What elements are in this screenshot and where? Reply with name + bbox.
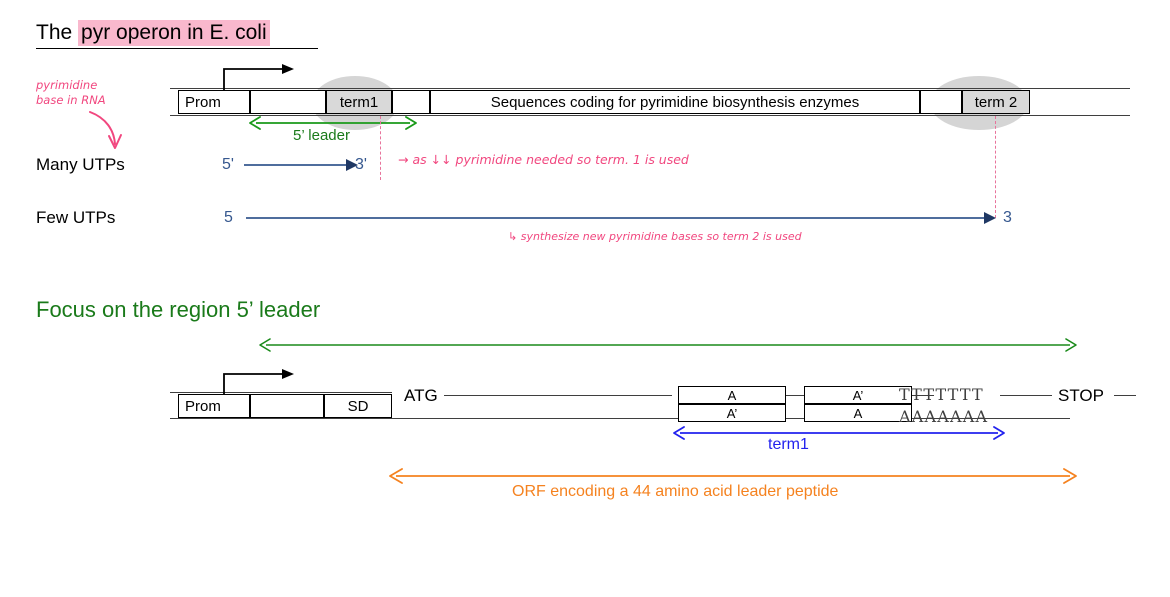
gene-box-term2-label: term 2 — [975, 94, 1018, 111]
gene-box-structural-genes-label: Sequences coding for pyrimidine biosynth… — [491, 94, 860, 111]
page-title: The pyr operon in E. coli — [36, 20, 270, 46]
handwritten-curved-arrow-icon — [84, 108, 144, 156]
slide-canvas: The pyr operon in E. coli pyrimidine bas… — [0, 0, 1170, 597]
transcript-1-arrow-icon — [244, 158, 360, 172]
handwritten-pyrimidine-note: pyrimidine base in RNA — [36, 78, 106, 108]
mrna-line-to-stop — [1000, 395, 1052, 396]
page-title-prefix: The — [36, 21, 78, 44]
section-heading: Focus on the region 5’ leader — [36, 297, 320, 323]
transcript-2-five-prime: 5 — [224, 209, 233, 227]
row-label-few-utps: Few UTPs — [36, 208, 115, 228]
transcript-1-three-prime: 3' — [355, 156, 367, 174]
bottom-gene-box-spacer — [250, 394, 324, 418]
hairpin-box-Aprime-bottom-label: A’ — [727, 406, 738, 421]
leader-region-span-arrow-icon — [258, 337, 1078, 353]
mrna-line-atg-to-hairpin — [444, 395, 672, 396]
term2-guideline — [995, 116, 996, 218]
gene-box-term2: term 2 — [962, 90, 1030, 114]
handwritten-pyrimidine-note-line2: base in RNA — [36, 93, 106, 108]
gene-box-spacer-1 — [250, 90, 326, 114]
orf-span-label: ORF encoding a 44 amino acid leader pept… — [512, 483, 838, 501]
hairpin-box-A-top: A — [678, 386, 786, 404]
handwritten-note-term1: → as ↓↓ pyrimidine needed so term. 1 is … — [398, 152, 689, 167]
handwritten-pyrimidine-note-line1: pyrimidine — [36, 78, 106, 93]
term1-span-label: term1 — [768, 436, 809, 454]
mrna-line-after-stop — [1114, 395, 1136, 396]
handwritten-note-term2: ↳ synthesize new pyrimidine bases so ter… — [508, 230, 802, 243]
poly-a-run: AAAAAAA — [899, 407, 988, 426]
hairpin-box-A-top-label: A — [728, 388, 737, 403]
bottom-gene-box-promoter-label: Prom — [185, 398, 221, 415]
title-underline — [36, 48, 318, 49]
gene-box-term1: term1 — [326, 90, 392, 114]
hairpin-box-Aprime-top: A’ — [804, 386, 912, 404]
term1-span-arrow-icon — [672, 425, 1006, 441]
hairpin-box-A-bottom-label: A — [854, 406, 863, 421]
gene-box-term1-label: term1 — [340, 94, 378, 111]
hairpin-box-A-bottom: A — [804, 404, 912, 422]
gene-box-spacer-2 — [392, 90, 430, 114]
bottom-gene-box-sd-label: SD — [348, 398, 369, 415]
bottom-gene-box-sd: SD — [324, 394, 392, 418]
poly-t-run: TTTTTTT — [899, 385, 984, 404]
hairpin-connector-top — [786, 395, 804, 396]
term1-guideline — [380, 116, 381, 180]
map-top-rail — [170, 88, 1130, 89]
hairpin-box-Aprime-bottom: A’ — [678, 404, 786, 422]
transcript-1-five-prime: 5' — [222, 156, 234, 174]
gene-box-promoter: Prom — [178, 90, 250, 114]
bottom-gene-box-promoter: Prom — [178, 394, 250, 418]
transcript-2-three-prime: 3 — [1003, 209, 1012, 227]
transcript-2-arrow-icon — [246, 211, 998, 225]
gene-box-spacer-3 — [920, 90, 962, 114]
start-codon-label: ATG — [404, 386, 438, 406]
bottom-map-top-rail-left — [170, 392, 392, 393]
stop-codon-label: STOP — [1058, 386, 1104, 406]
gene-box-promoter-label: Prom — [185, 94, 221, 111]
row-label-many-utps: Many UTPs — [36, 155, 125, 175]
orf-span-arrow-icon — [388, 468, 1078, 484]
leader-span-label: 5’ leader — [293, 127, 350, 144]
hairpin-box-Aprime-top-label: A’ — [853, 388, 864, 403]
gene-box-structural-genes: Sequences coding for pyrimidine biosynth… — [430, 90, 920, 114]
page-title-highlight: pyr operon in E. coli — [78, 20, 270, 46]
